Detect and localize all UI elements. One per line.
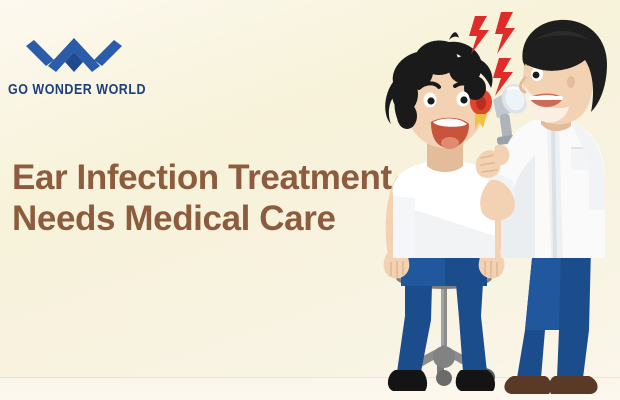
headline-line-2: Needs Medical Care bbox=[12, 199, 412, 240]
headline-line-1: Ear Infection Treatment bbox=[12, 158, 412, 199]
doctor-brown-shoes bbox=[504, 376, 597, 394]
banner: GO WONDER WORLD Ear Infection Treatment … bbox=[0, 0, 620, 400]
w-chevron-logo-mark bbox=[24, 30, 124, 76]
logo-wordmark: GO WONDER WORLD bbox=[8, 82, 125, 98]
doctor-blue-trousers bbox=[517, 248, 591, 378]
pain-bolt-2 bbox=[495, 12, 515, 54]
doctor-head bbox=[521, 20, 608, 125]
site-logo[interactable]: GO WONDER WORLD bbox=[8, 30, 158, 106]
headline: Ear Infection Treatment Needs Medical Ca… bbox=[12, 158, 412, 240]
doctor-examining-child-ear-illustration bbox=[375, 0, 620, 400]
child-head bbox=[385, 32, 492, 157]
